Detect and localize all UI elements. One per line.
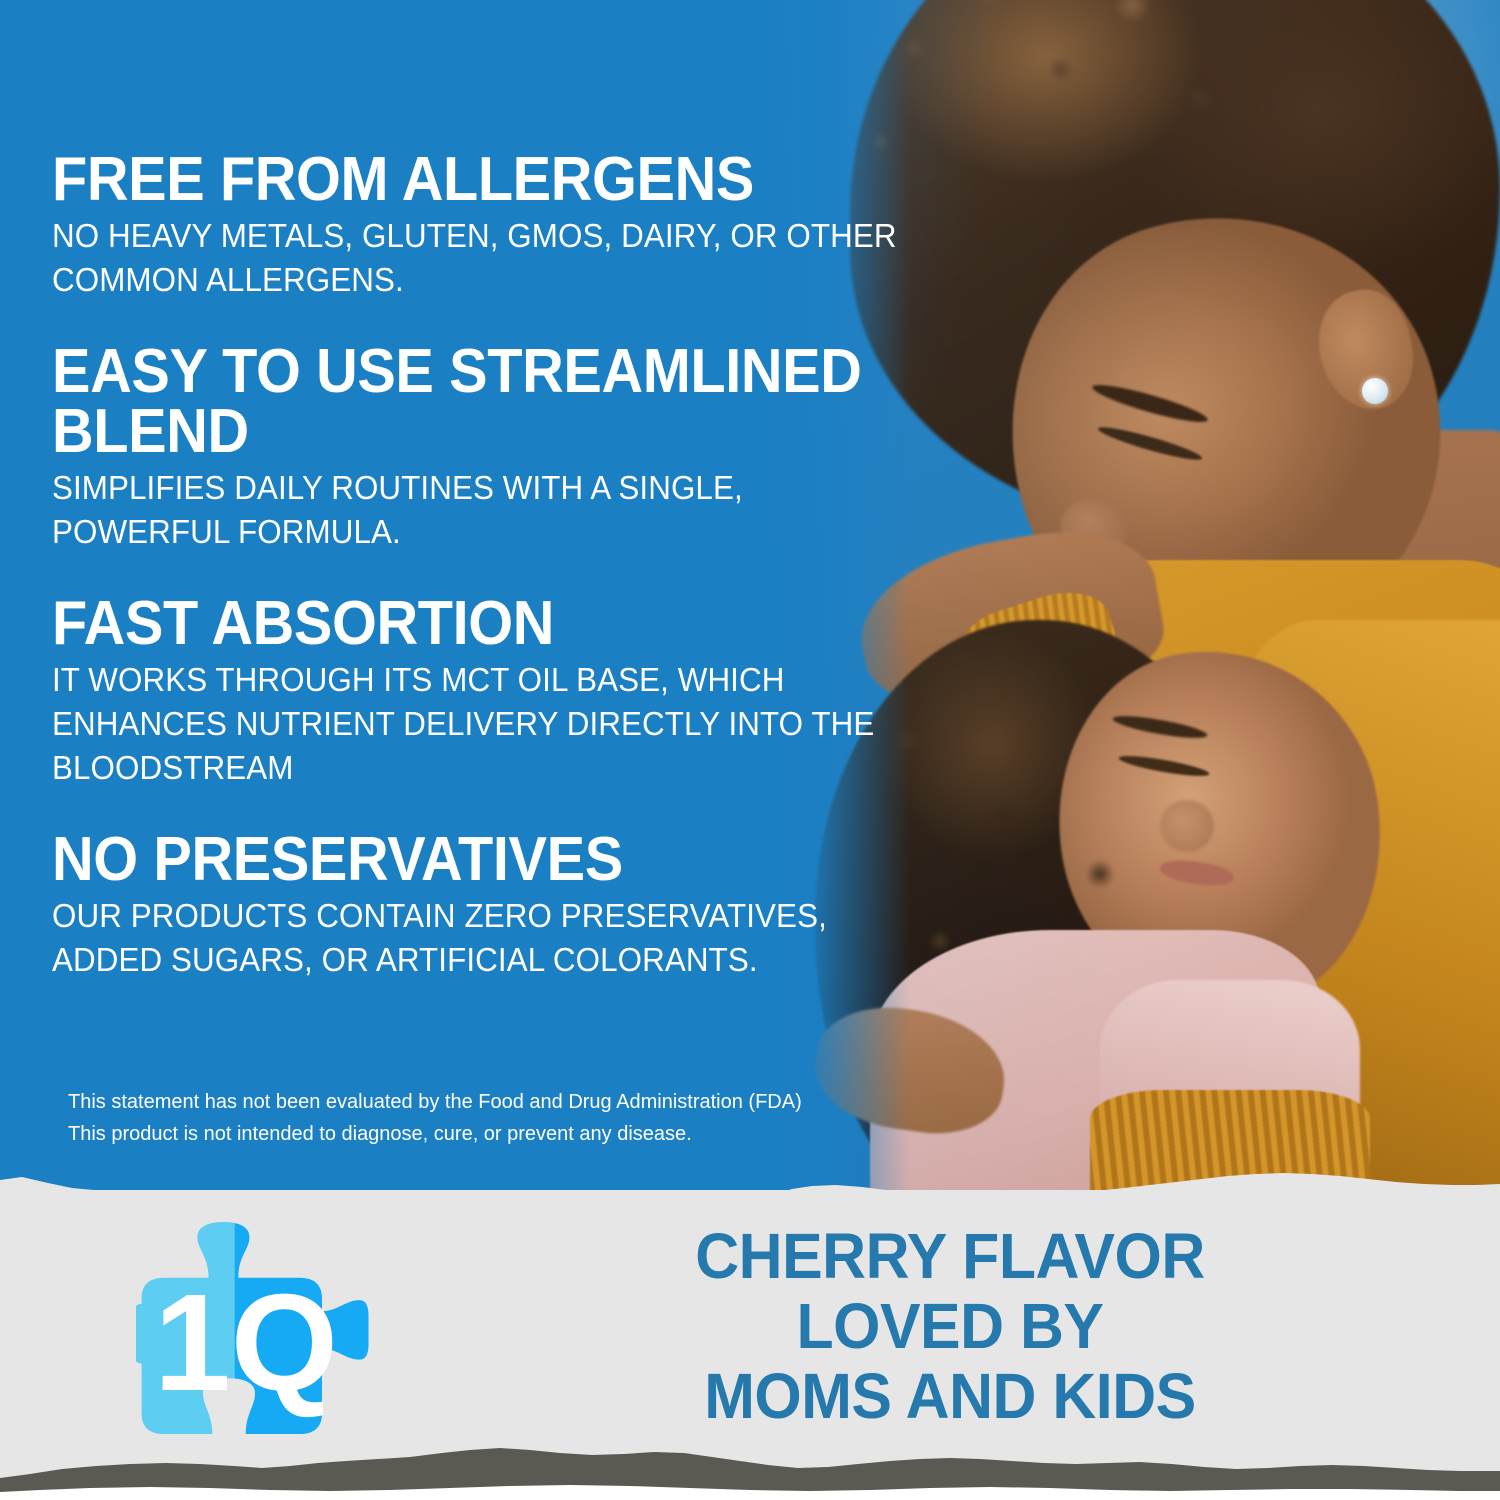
feature-list: FREE FROM ALLERGENS NO HEAVY METALS, GLU… <box>52 150 972 1022</box>
feature-body: OUR PRODUCTS CONTAIN ZERO PRESERVATIVES,… <box>52 894 926 982</box>
features-panel: FREE FROM ALLERGENS NO HEAVY METALS, GLU… <box>0 0 1500 1190</box>
tagline-line-3: MOMS AND KIDS <box>599 1362 1302 1432</box>
tagline-block: CHERRY FLAVOR LOVED BY MOMS AND KIDS <box>599 1222 1302 1431</box>
feature-body: IT WORKS THROUGH ITS MCT OIL BASE, WHICH… <box>52 658 926 790</box>
feature-title: EASY TO USE STREAMLINED BLEND <box>52 342 908 462</box>
infographic-canvas: FREE FROM ALLERGENS NO HEAVY METALS, GLU… <box>0 0 1500 1500</box>
feature-item-allergens: FREE FROM ALLERGENS NO HEAVY METALS, GLU… <box>52 150 972 302</box>
earring <box>1362 378 1388 404</box>
feature-body: SIMPLIFIES DAILY ROUTINES WITH A SINGLE,… <box>52 466 926 554</box>
puzzle-piece-icon: 1Q <box>128 1212 378 1464</box>
feature-title: FREE FROM ALLERGENS <box>52 150 908 210</box>
tagline-line-1: CHERRY FLAVOR <box>599 1222 1302 1292</box>
feature-body: NO HEAVY METALS, GLUTEN, GMOS, DAIRY, OR… <box>52 214 926 302</box>
tagline-line-2: LOVED BY <box>599 1292 1302 1362</box>
logo-text: 1Q <box>154 1266 338 1420</box>
fda-disclaimer: This statement has not been evaluated by… <box>68 1086 808 1151</box>
brand-logo-1q: 1Q <box>128 1212 378 1464</box>
feature-item-fast-absorption: FAST ABSORTION IT WORKS THROUGH ITS MCT … <box>52 594 972 790</box>
feature-item-easy-to-use: EASY TO USE STREAMLINED BLEND SIMPLIFIES… <box>52 342 972 554</box>
feature-title: NO PRESERVATIVES <box>52 830 908 890</box>
feature-item-no-preservatives: NO PRESERVATIVES OUR PRODUCTS CONTAIN ZE… <box>52 830 972 982</box>
feature-title: FAST ABSORTION <box>52 594 908 654</box>
